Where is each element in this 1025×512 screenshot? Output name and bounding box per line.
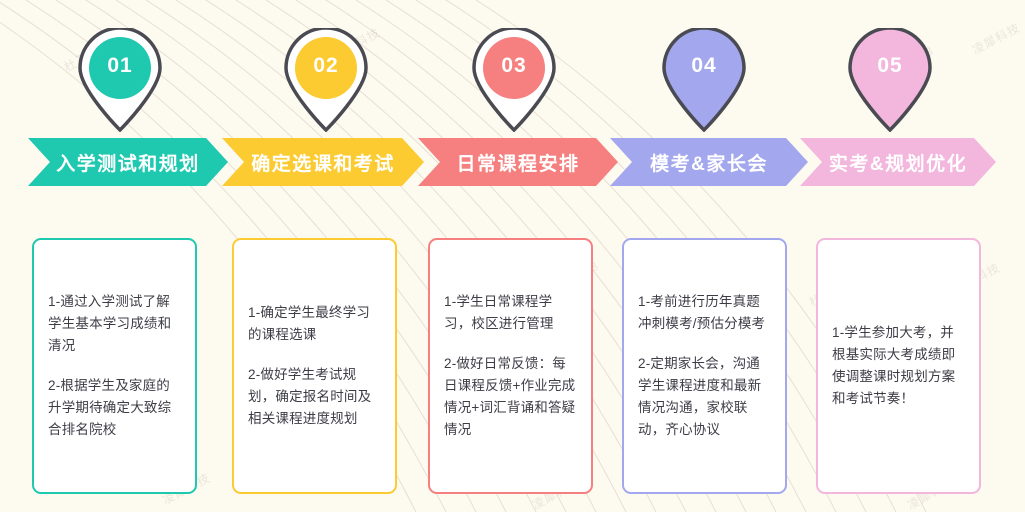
card-paragraph: 1-通过入学测试了解学生基本学习成绩和清况 bbox=[48, 291, 183, 357]
pin-number-label: 05 bbox=[842, 54, 938, 78]
detail-cards-row: 1-通过入学测试了解学生基本学习成绩和清况2-根据学生及家庭的升学期待确定大致综… bbox=[0, 238, 1025, 496]
card-paragraph: 2-根据学生及家庭的升学期待确定大致综合排名院校 bbox=[48, 375, 183, 441]
card-paragraph: 2-做好学生考试规划，确定报名时间及相关课程进度规划 bbox=[248, 364, 383, 430]
card-paragraph: 1-学生参加大考，并根基实际大考成绩即使调整课时规划方案和考试节奏！ bbox=[832, 322, 967, 410]
card-paragraph: 1-确定学生最终学习的课程选课 bbox=[248, 302, 383, 346]
stage-banner-03[interactable]: 日常课程安排 bbox=[418, 138, 618, 186]
stage-banner-label: 确定选课和考试 bbox=[251, 149, 395, 176]
detail-card-05: 1-学生参加大考，并根基实际大考成绩即使调整课时规划方案和考试节奏！ bbox=[816, 238, 981, 494]
card-paragraph: 2-做好日常反馈：每日课程反馈+作业完成情况+词汇背诵和答疑情况 bbox=[444, 353, 579, 441]
pin-marker-04: 04 bbox=[656, 28, 752, 132]
stage-banner-label: 实考&规划优化 bbox=[829, 149, 967, 176]
pin-shape-icon bbox=[72, 28, 168, 132]
stage-banner-label: 入学测试和规划 bbox=[56, 149, 200, 176]
pin-number-label: 01 bbox=[72, 54, 168, 78]
pin-shape-icon bbox=[466, 28, 562, 132]
stage-banners-row: 入学测试和规划确定选课和考试日常课程安排模考&家长会实考&规划优化 bbox=[0, 138, 1025, 186]
stage-banner-label: 日常课程安排 bbox=[456, 149, 579, 176]
pin-marker-02: 02 bbox=[278, 28, 374, 132]
pin-number-label: 04 bbox=[656, 54, 752, 78]
stage-banner-01[interactable]: 入学测试和规划 bbox=[28, 138, 228, 186]
pin-number-label: 03 bbox=[466, 54, 562, 78]
pin-number-label: 02 bbox=[278, 54, 374, 78]
pin-marker-03: 03 bbox=[466, 28, 562, 132]
detail-card-02: 1-确定学生最终学习的课程选课2-做好学生考试规划，确定报名时间及相关课程进度规… bbox=[232, 238, 397, 494]
stage-banner-04[interactable]: 模考&家长会 bbox=[610, 138, 808, 186]
card-paragraph: 1-考前进行历年真题冲刺模考/预估分模考 bbox=[638, 291, 773, 335]
infographic-canvas: 杜玉欣 | 9848 凌犀科技 杜玉欣 | 9848 凌犀科技 杜玉欣 | 98… bbox=[0, 0, 1025, 512]
pin-shape-icon bbox=[842, 28, 938, 132]
pin-marker-05: 05 bbox=[842, 28, 938, 132]
detail-card-01: 1-通过入学测试了解学生基本学习成绩和清况2-根据学生及家庭的升学期待确定大致综… bbox=[32, 238, 197, 494]
detail-card-03: 1-学生日常课程学习，校区进行管理2-做好日常反馈：每日课程反馈+作业完成情况+… bbox=[428, 238, 593, 494]
detail-card-04: 1-考前进行历年真题冲刺模考/预估分模考2-定期家长会，沟通学生课程进度和最新情… bbox=[622, 238, 787, 494]
pin-shape-icon bbox=[278, 28, 374, 132]
card-paragraph: 2-定期家长会，沟通学生课程进度和最新情况沟通，家校联动，齐心协议 bbox=[638, 353, 773, 441]
card-paragraph: 1-学生日常课程学习，校区进行管理 bbox=[444, 291, 579, 335]
stage-banner-02[interactable]: 确定选课和考试 bbox=[222, 138, 424, 186]
pin-markers-row: 0102030405 bbox=[0, 0, 1025, 130]
stage-banner-label: 模考&家长会 bbox=[650, 149, 768, 176]
pin-shape-icon bbox=[656, 28, 752, 132]
stage-banner-05[interactable]: 实考&规划优化 bbox=[800, 138, 996, 186]
pin-marker-01: 01 bbox=[72, 28, 168, 132]
